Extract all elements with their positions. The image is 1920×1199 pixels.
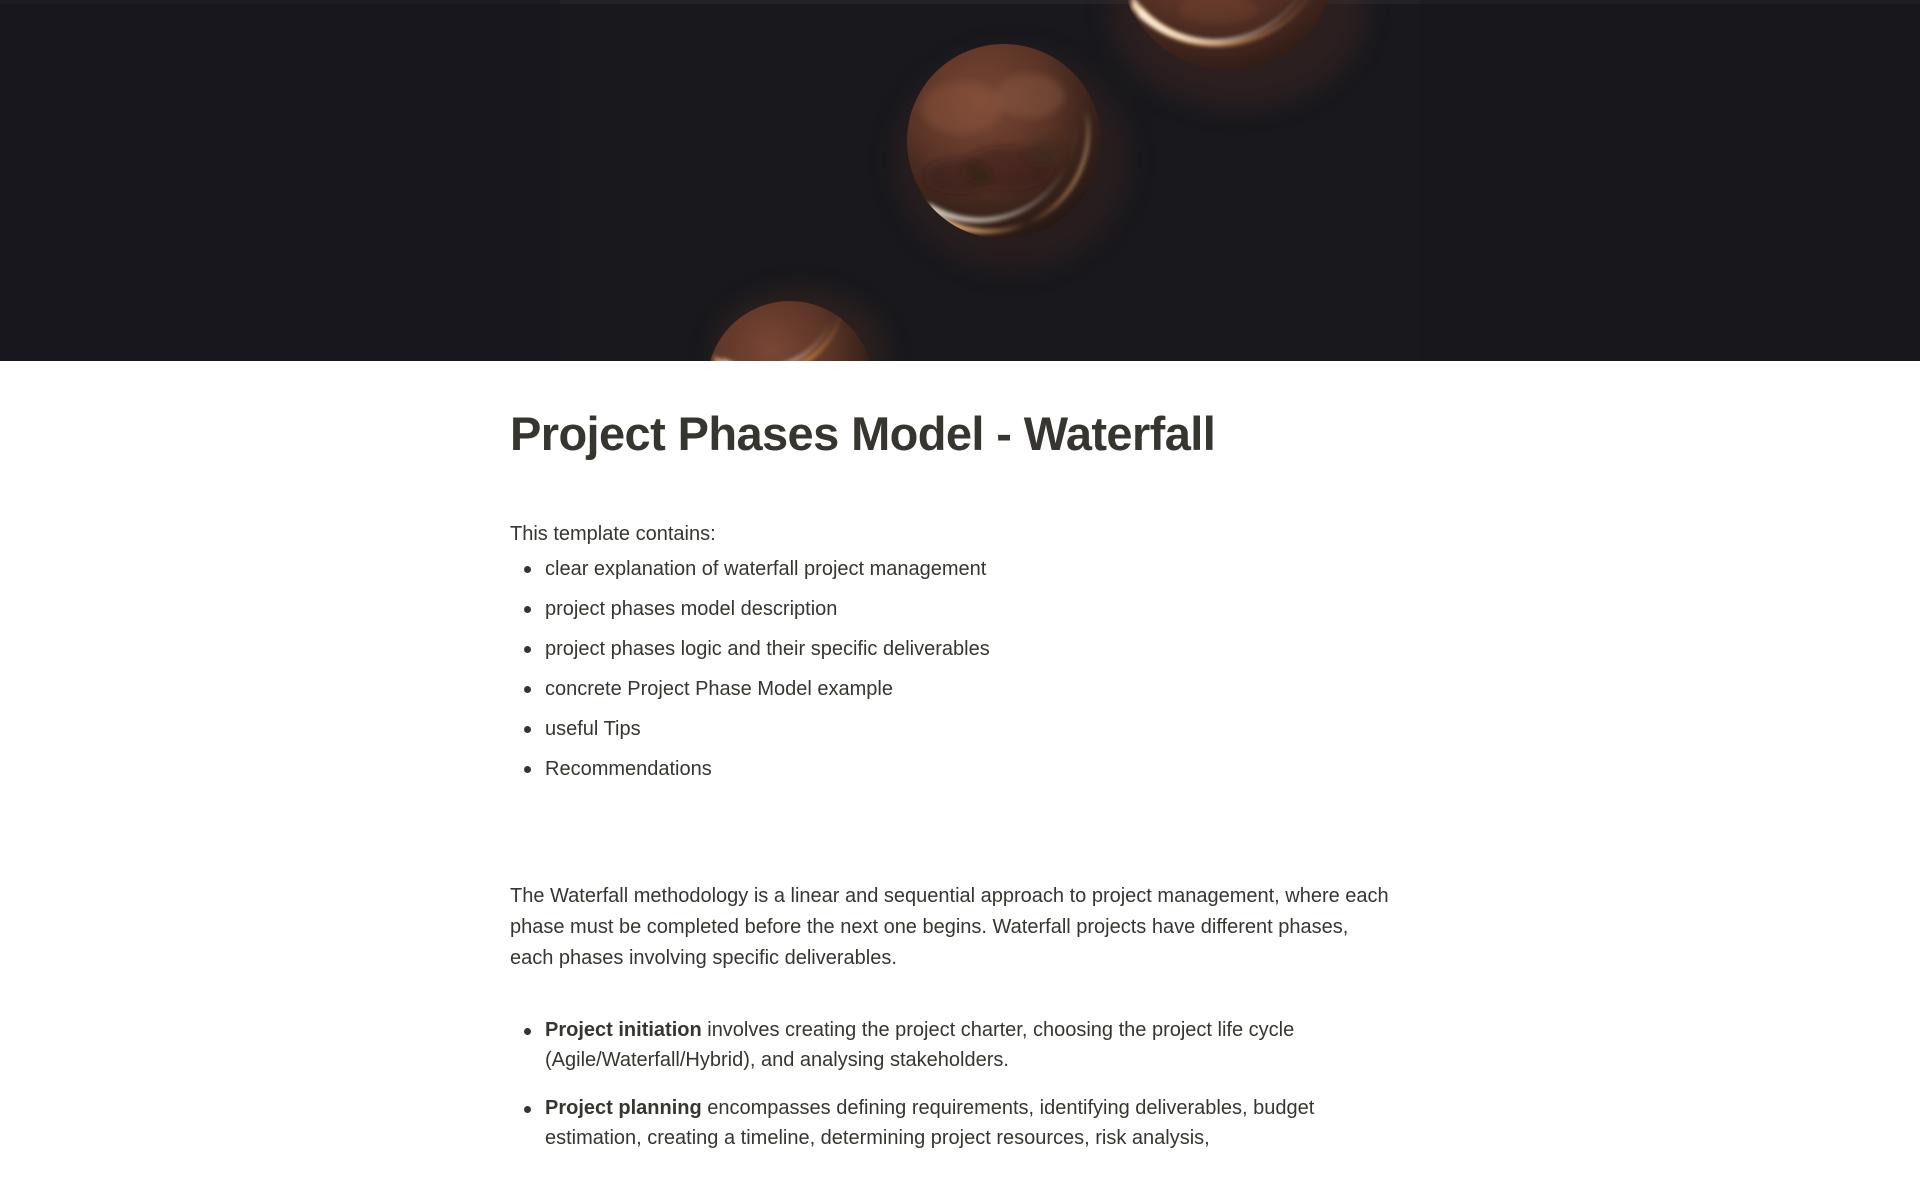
list-item[interactable]: useful Tips	[510, 709, 1410, 749]
document-body: Project Phases Model - Waterfall This te…	[0, 361, 1920, 1162]
list-item[interactable]: project phases model description	[510, 589, 1410, 629]
template-contains-list: clear explanation of waterfall project m…	[510, 549, 1410, 789]
methodology-paragraph[interactable]: The Waterfall methodology is a linear an…	[510, 881, 1390, 974]
list-item[interactable]: Recommendations	[510, 749, 1410, 789]
project-phases-list: Project initiation involves creating the…	[510, 1006, 1410, 1162]
cover-image[interactable]	[0, 0, 1920, 361]
moon-eclipse-photo-icon	[0, 0, 1920, 361]
list-item[interactable]: project phases logic and their specific …	[510, 629, 1410, 669]
phase-term: Project planning	[545, 1097, 702, 1119]
document-page: Project Phases Model - Waterfall This te…	[0, 0, 1920, 1199]
phase-term: Project initiation	[545, 1019, 702, 1041]
list-item[interactable]: clear explanation of waterfall project m…	[510, 549, 1410, 589]
paragraph-gap	[510, 974, 1410, 1006]
empty-block[interactable]	[510, 789, 1410, 881]
intro-lead-text[interactable]: This template contains:	[510, 461, 1410, 549]
page-title[interactable]: Project Phases Model - Waterfall	[510, 361, 1410, 461]
list-item[interactable]: Project initiation involves creating the…	[510, 1006, 1390, 1084]
list-item[interactable]: Project planning encompasses defining re…	[510, 1084, 1390, 1162]
list-item[interactable]: concrete Project Phase Model example	[510, 669, 1410, 709]
